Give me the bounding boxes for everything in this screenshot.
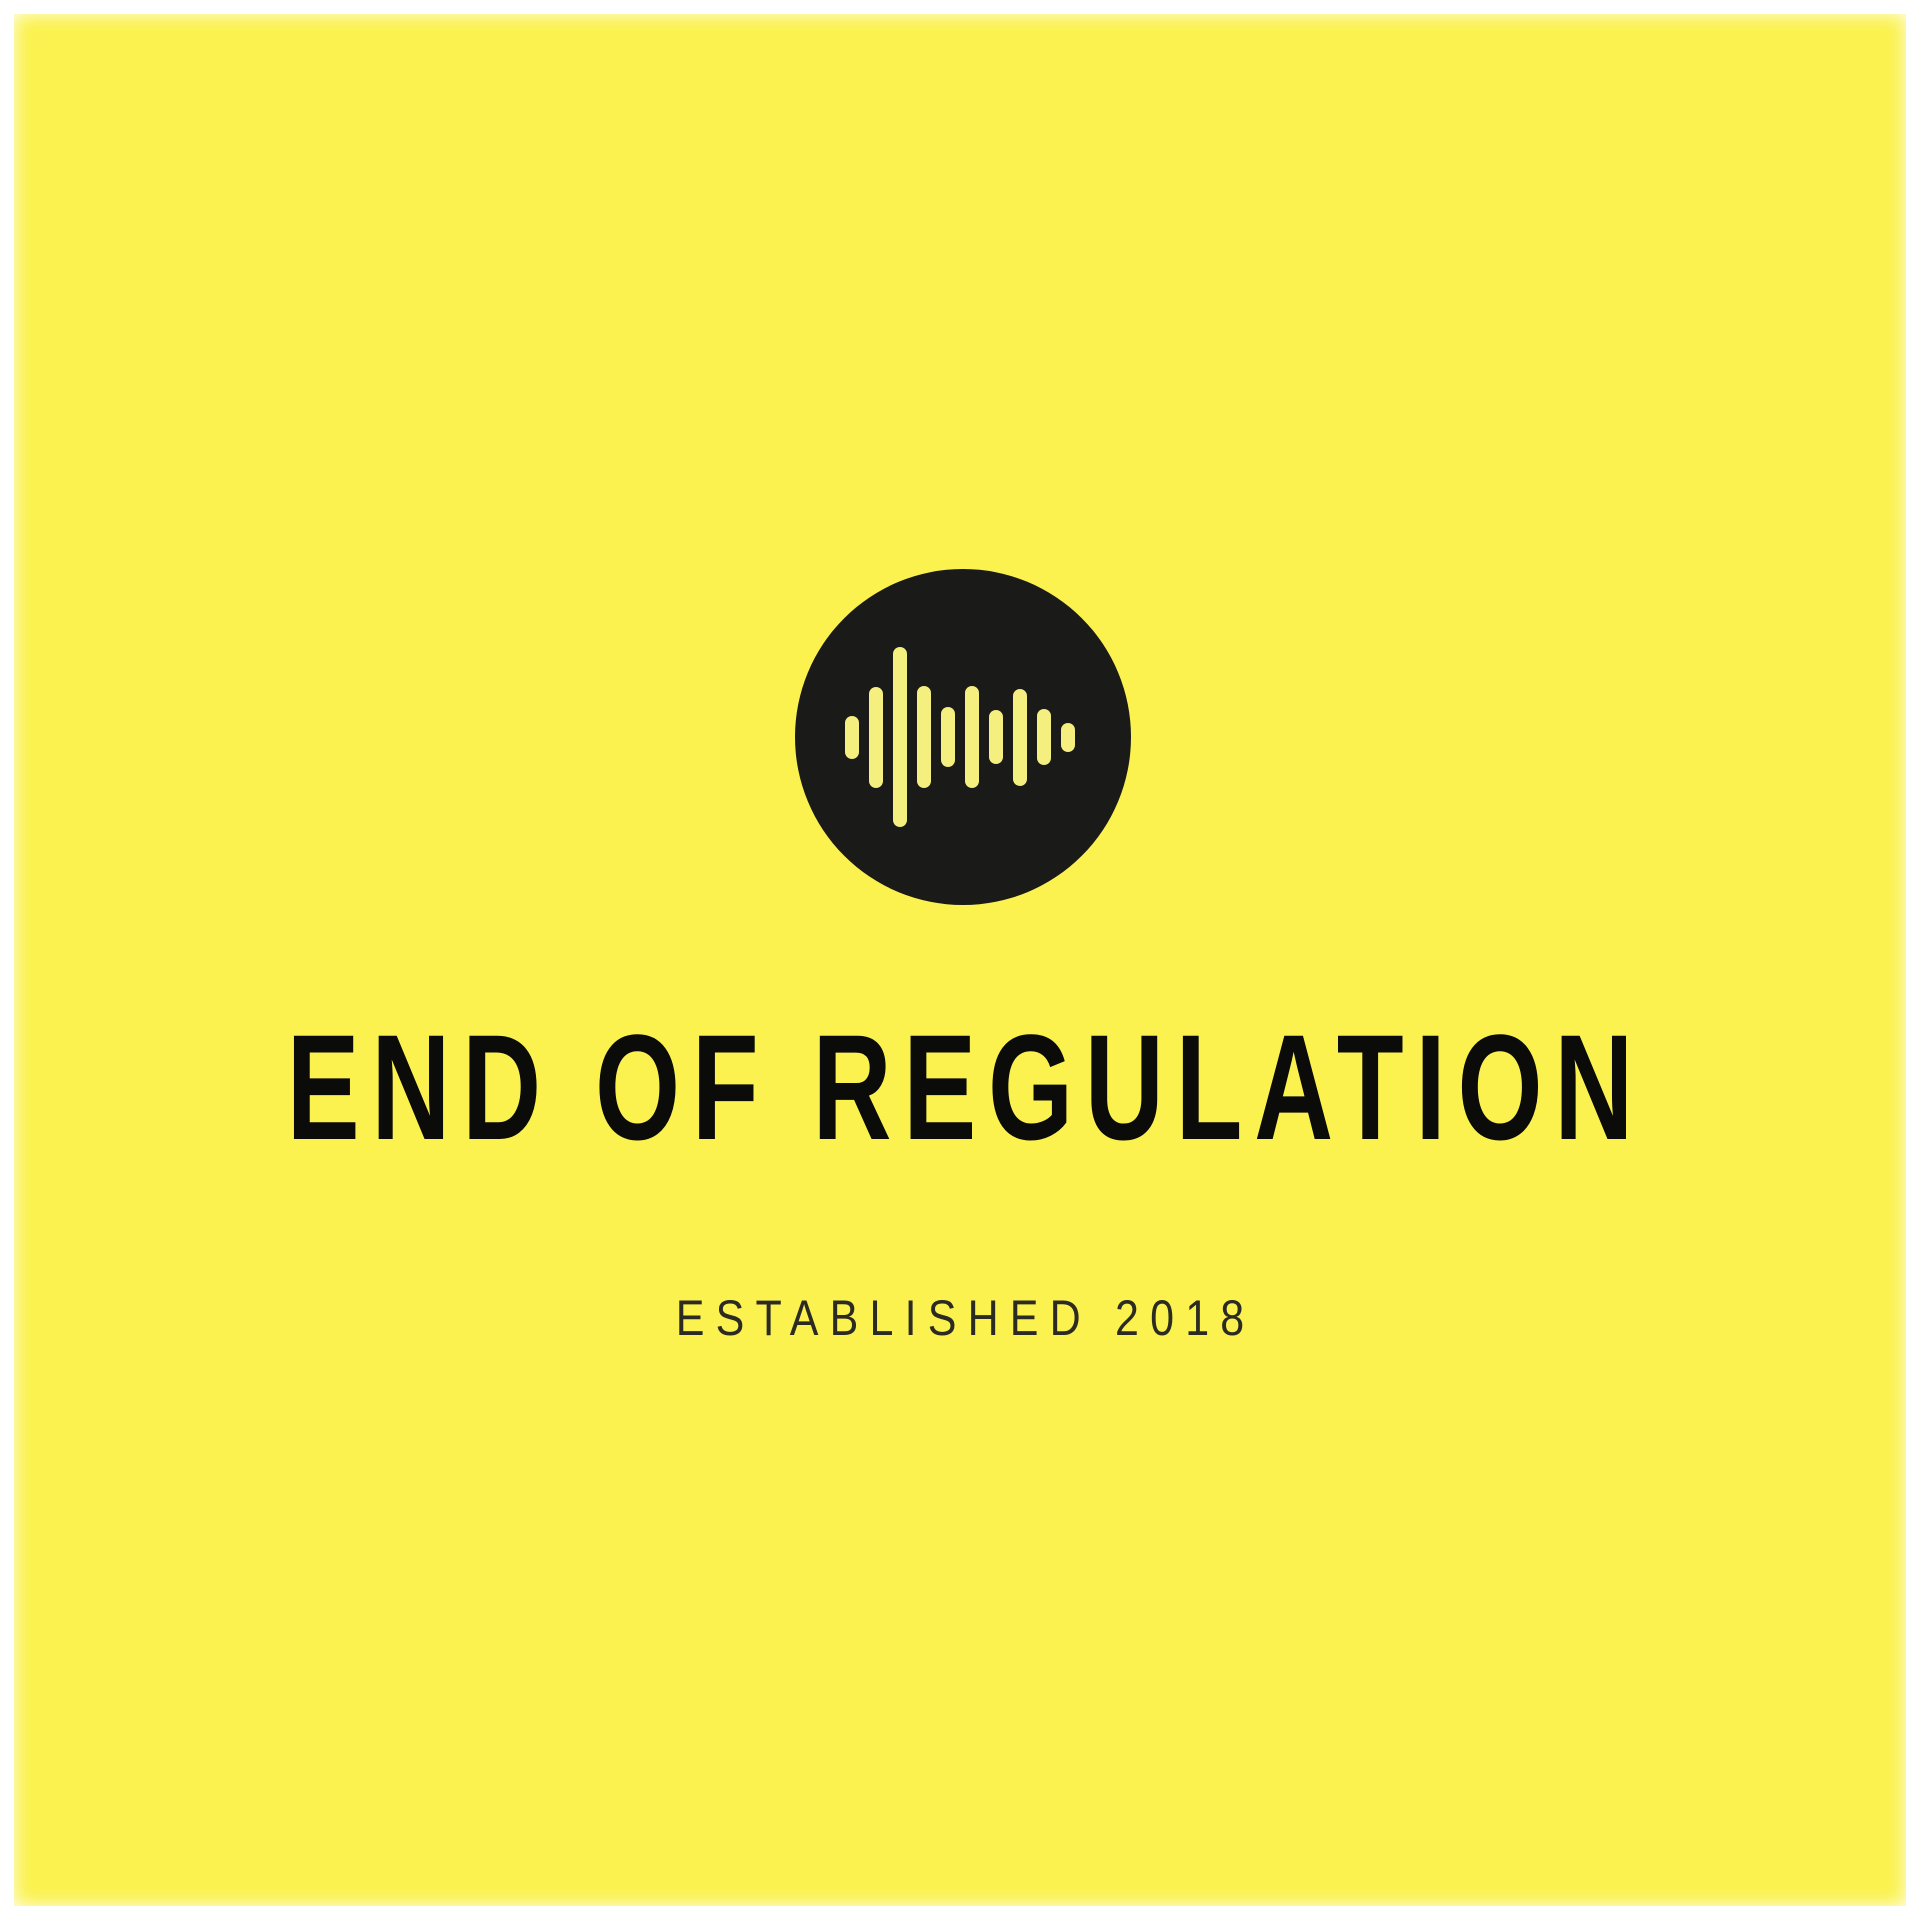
page-title: END OF REGULATION xyxy=(259,1012,1661,1162)
waveform-bar-10 xyxy=(1061,723,1075,752)
waveform-bar-8 xyxy=(1013,689,1027,786)
waveform-bar-5 xyxy=(941,707,955,767)
emblem-circle xyxy=(795,569,1131,905)
logo-composition: END OF REGULATION ESTABLISHED 2018 xyxy=(0,0,1920,1920)
waveform-bar-4 xyxy=(917,686,931,788)
audio-waveform-icon xyxy=(845,569,1075,905)
waveform-bar-3 xyxy=(893,647,907,827)
brand-tagline: ESTABLISHED 2018 xyxy=(134,1293,1785,1343)
waveform-bar-6 xyxy=(965,686,979,788)
waveform-bar-9 xyxy=(1037,709,1051,765)
logo-canvas: END OF REGULATION ESTABLISHED 2018 xyxy=(0,0,1920,1920)
waveform-bar-1 xyxy=(845,716,859,759)
waveform-bar-7 xyxy=(989,710,1003,764)
waveform-bar-2 xyxy=(869,687,883,788)
